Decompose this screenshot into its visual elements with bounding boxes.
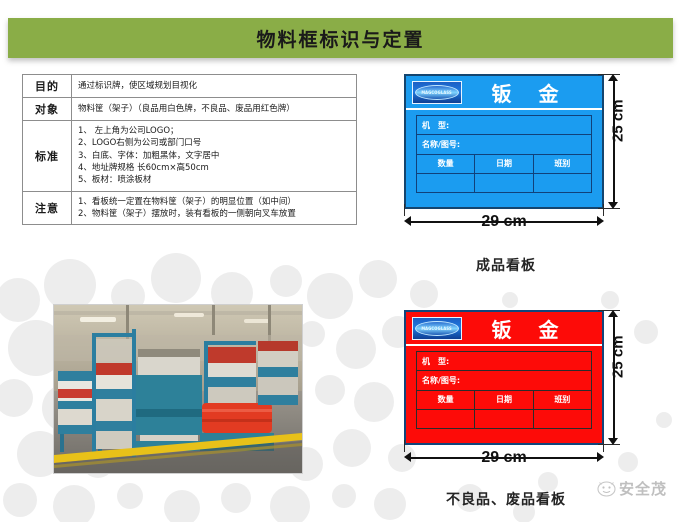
- watermark: 安全茂: [597, 478, 667, 499]
- board-field-grid: 机 型: 名称/图号: 数量 日期 班别: [416, 351, 592, 429]
- defective-goods-board-group: MAGCOGLASS 钣 金 机 型: 名称/图号: 数量 日期 班别: [404, 310, 604, 445]
- board-field-grid: 机 型: 名称/图号: 数量 日期 班别: [416, 115, 592, 193]
- defective-goods-board: MAGCOGLASS 钣 金 机 型: 名称/图号: 数量 日期 班别: [404, 310, 604, 445]
- row-label-notice: 注意: [23, 191, 72, 225]
- red-height-label: 25 cm: [610, 335, 627, 378]
- board-title: 钣 金: [462, 78, 602, 107]
- board-row-blank: [417, 174, 591, 192]
- row-label-purpose: 目的: [23, 75, 72, 98]
- field-label-name: 名称/图号:: [417, 371, 591, 389]
- text-line: 1、 左上角为公司LOGO；: [78, 125, 350, 137]
- column-header-date: 日期: [475, 391, 533, 409]
- company-logo-icon: MAGCOGLASS: [412, 81, 462, 104]
- text-line: 1、看板统一定置在物料筐（架子）的明显位置（如中间）: [78, 196, 350, 208]
- text-line: 4、地址牌规格 长60cm×高50cm: [78, 162, 350, 174]
- row-value-purpose: 通过标识牌，使区域规划目视化: [72, 75, 357, 98]
- red-board-width-dimension: 29 cm: [404, 448, 604, 478]
- company-logo-icon: MAGCOGLASS: [412, 317, 462, 340]
- column-header-shift: 班别: [534, 155, 591, 173]
- smiley-face-icon: [597, 480, 616, 497]
- cell-shift-value: [534, 410, 591, 428]
- column-header-quantity: 数量: [417, 155, 475, 173]
- red-board-caption: 不良品、废品看板: [396, 489, 616, 509]
- finished-goods-board-group: MAGCOGLASS 钣 金 机 型: 名称/图号: 数量 日期 班别: [404, 74, 604, 209]
- logo-text: MAGCOGLASS: [422, 326, 453, 331]
- board-row-name: 名称/图号:: [417, 371, 591, 390]
- board-header: MAGCOGLASS 钣 金: [406, 76, 602, 110]
- slide-title-banner: 物料框标识与定置: [8, 18, 673, 58]
- table-row: 对象 物料筐（架子）（良品用白色牌，不良品、废品用红色牌）: [23, 98, 357, 121]
- board-row-model: 机 型:: [417, 116, 591, 135]
- text-line: 2、LOGO右侧为公司或部门口号: [78, 137, 350, 149]
- cell-quantity-value: [417, 174, 475, 192]
- table-row: 注意 1、看板统一定置在物料筐（架子）的明显位置（如中间） 2、物料筐（架子）摆…: [23, 191, 357, 225]
- column-header-quantity: 数量: [417, 391, 475, 409]
- column-header-shift: 班别: [534, 391, 591, 409]
- board-title: 钣 金: [462, 314, 602, 343]
- board-row-blank: [417, 410, 591, 428]
- field-label-name: 名称/图号:: [417, 135, 591, 153]
- row-label-standard: 标准: [23, 121, 72, 192]
- cell-quantity-value: [417, 410, 475, 428]
- table-row: 标准 1、 左上角为公司LOGO； 2、LOGO右侧为公司或部门口号 3、白底、…: [23, 121, 357, 192]
- board-row-name: 名称/图号:: [417, 135, 591, 154]
- cell-shift-value: [534, 174, 591, 192]
- board-header: MAGCOGLASS 钣 金: [406, 312, 602, 346]
- row-value-notice: 1、看板统一定置在物料筐（架子）的明显位置（如中间） 2、物料筐（架子）摆放时，…: [72, 191, 357, 225]
- board-row-model: 机 型:: [417, 352, 591, 371]
- specification-table: 目的 通过标识牌，使区域规划目视化 对象 物料筐（架子）（良品用白色牌，不良品、…: [22, 74, 357, 225]
- blue-board-caption: 成品看板: [396, 255, 616, 275]
- text-line: 物料筐（架子）（良品用白色牌，不良品、废品用红色牌）: [78, 103, 350, 115]
- field-label-model: 机 型:: [417, 116, 591, 134]
- row-label-object: 对象: [23, 98, 72, 121]
- row-value-standard: 1、 左上角为公司LOGO； 2、LOGO右侧为公司或部门口号 3、白底、字体：…: [72, 121, 357, 192]
- text-line: 通过标识牌，使区域规划目视化: [78, 80, 350, 92]
- factory-photo: [53, 304, 303, 474]
- red-width-label: 29 cm: [481, 449, 526, 467]
- blue-height-label: 25 cm: [610, 99, 627, 142]
- table-row: 目的 通过标识牌，使区域规划目视化: [23, 75, 357, 98]
- cell-date-value: [475, 410, 533, 428]
- page-title: 物料框标识与定置: [256, 25, 424, 52]
- field-label-model: 机 型:: [417, 352, 591, 370]
- finished-goods-board: MAGCOGLASS 钣 金 机 型: 名称/图号: 数量 日期 班别: [404, 74, 604, 209]
- text-line: 5、板材：喷涂板材: [78, 174, 350, 186]
- blue-board-height-dimension: 25 cm: [604, 74, 666, 209]
- text-line: 3、白底、字体：加粗黑体，文字居中: [78, 150, 350, 162]
- watermark-text: 安全茂: [619, 478, 667, 499]
- blue-board-width-dimension: 29 cm: [404, 212, 604, 242]
- logo-text: MAGCOGLASS: [422, 90, 453, 95]
- column-header-date: 日期: [475, 155, 533, 173]
- text-line: 2、物料筐（架子）摆放时，装有看板的一侧朝向叉车放置: [78, 208, 350, 220]
- row-value-object: 物料筐（架子）（良品用白色牌，不良品、废品用红色牌）: [72, 98, 357, 121]
- cell-date-value: [475, 174, 533, 192]
- board-row-headers: 数量 日期 班别: [417, 155, 591, 174]
- factory-photo-image: [54, 305, 302, 473]
- red-board-height-dimension: 25 cm: [604, 310, 666, 445]
- board-row-headers: 数量 日期 班别: [417, 391, 591, 410]
- blue-width-label: 29 cm: [481, 213, 526, 231]
